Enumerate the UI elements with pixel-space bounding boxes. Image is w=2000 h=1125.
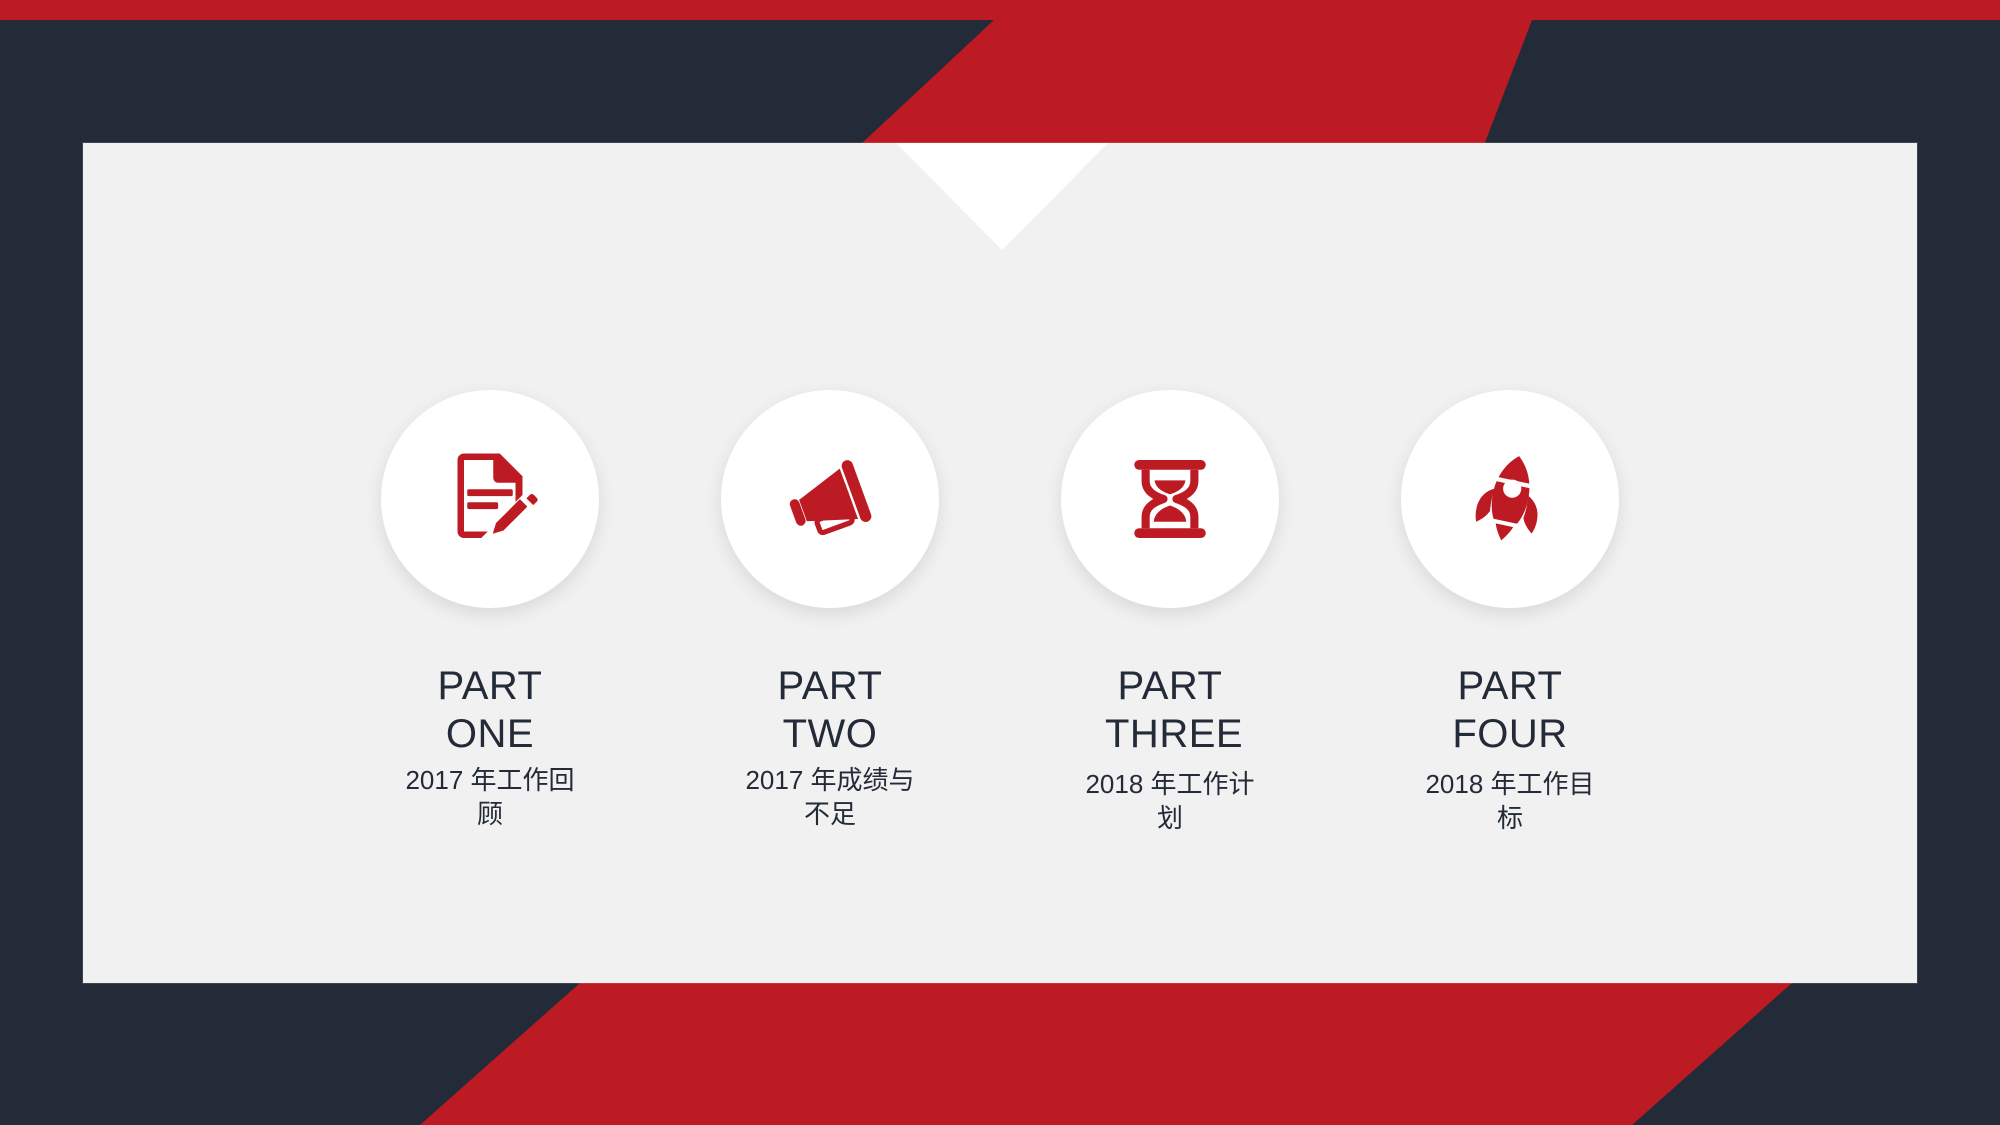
parts-row: PART ONE 2017 年工作回顾: [83, 390, 1917, 836]
document-pencil-icon: [438, 447, 542, 551]
top-red-strip: [0, 0, 2000, 20]
part-subtitle: 2018 年工作计划: [1083, 768, 1258, 836]
bottom-diagonal-red-band: [0, 983, 2000, 1125]
part-subtitle: 2018 年工作目标: [1423, 768, 1598, 836]
slide-root: PART ONE 2017 年工作回顾: [0, 0, 2000, 1125]
part-title: PART TWO: [735, 662, 925, 758]
part-item-two[interactable]: PART TWO 2017 年成绩与不足: [660, 390, 1000, 832]
part-title: PART ONE: [395, 662, 585, 758]
part-title: PART FOUR: [1445, 662, 1575, 758]
megaphone-icon: [778, 447, 882, 551]
part-subtitle: 2017 年工作回顾: [400, 764, 580, 832]
hourglass-icon: [1118, 447, 1222, 551]
icon-circle-three[interactable]: [1061, 390, 1279, 608]
part-item-one[interactable]: PART ONE 2017 年工作回顾: [320, 390, 660, 832]
icon-circle-four[interactable]: [1401, 390, 1619, 608]
rocket-icon: [1458, 447, 1562, 551]
part-item-four[interactable]: PART FOUR 2018 年工作目标: [1340, 390, 1680, 836]
icon-circle-one[interactable]: [381, 390, 599, 608]
part-title: PART THREE: [1105, 662, 1235, 758]
top-diagonal-red-band: [0, 20, 2000, 145]
part-item-three[interactable]: PART THREE 2018 年工作计划: [1000, 390, 1340, 836]
icon-circle-two[interactable]: [721, 390, 939, 608]
part-subtitle: 2017 年成绩与不足: [740, 764, 920, 832]
